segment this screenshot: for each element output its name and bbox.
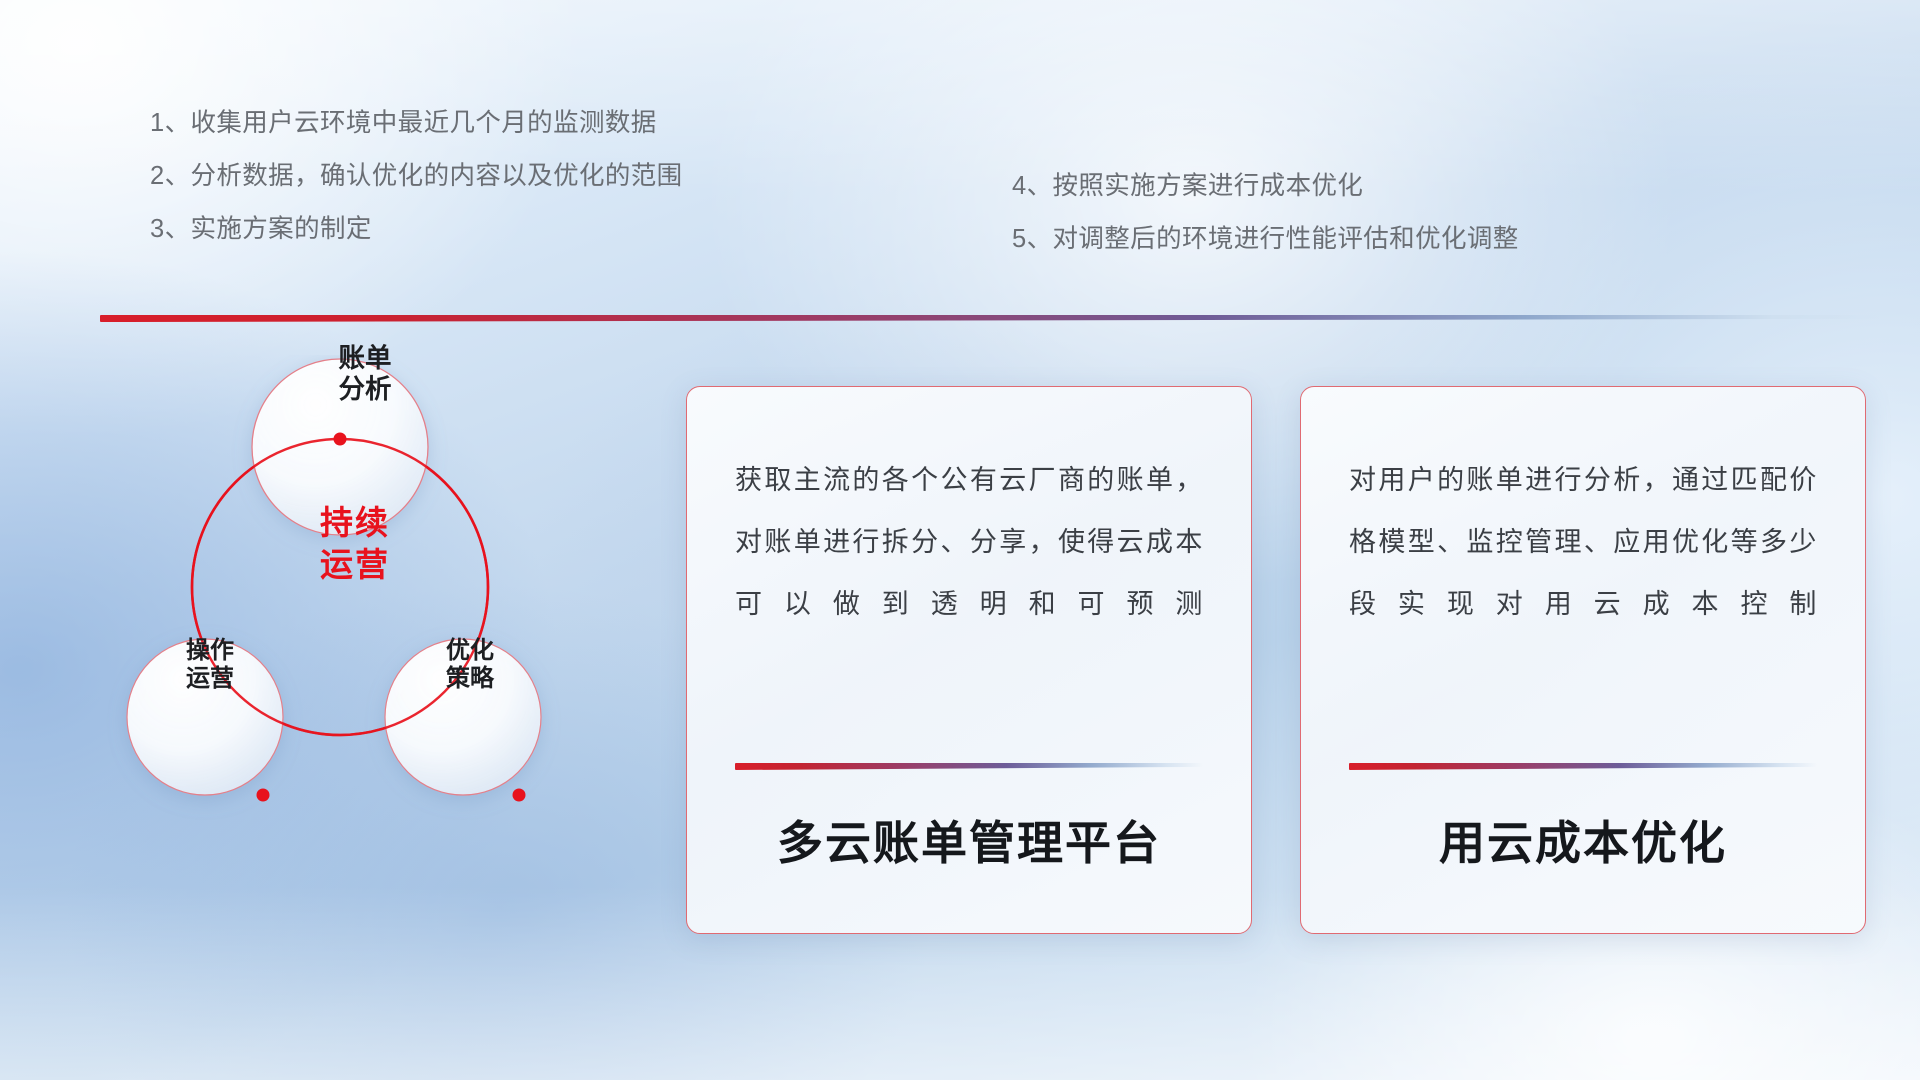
step-item: 2、分析数据，确认优化的内容以及优化的范围 [150, 150, 683, 203]
card-body: 获取主流的各个公有云厂商的账单，对账单进行拆分、分享，使得云成本可以做到透明和可… [687, 387, 1251, 635]
step-item: 1、收集用户云环境中最近几个月的监测数据 [150, 97, 683, 150]
step-item: 3、实施方案的制定 [150, 203, 683, 256]
step-item: 5、对调整后的环境进行性能评估和优化调整 [1012, 213, 1519, 266]
card-body: 对用户的账单进行分析，通过匹配价格模型、监控管理、应用优化等多少段实现对用云成本… [1301, 387, 1865, 635]
connector-dot-bottom-left [257, 789, 270, 802]
card-description: 获取主流的各个公有云厂商的账单，对账单进行拆分、分享，使得云成本可以做到透明和可… [735, 449, 1203, 635]
continuous-operation-diagram: 账单 分析 操作 运营 优化 策略 持续 运营 [95, 355, 565, 825]
steps-list-right: 4、按照实施方案进行成本优化 5、对调整后的环境进行性能评估和优化调整 [1012, 160, 1519, 266]
connector-dot-top [334, 433, 347, 446]
feature-card-cost-optimization[interactable]: 对用户的账单进行分析，通过匹配价格模型、监控管理、应用优化等多少段实现对用云成本… [1300, 386, 1866, 934]
card-title: 用云成本优化 [1301, 807, 1865, 873]
feature-card-multicloud-billing[interactable]: 获取主流的各个公有云厂商的账单，对账单进行拆分、分享，使得云成本可以做到透明和可… [686, 386, 1252, 934]
step-item: 4、按照实施方案进行成本优化 [1012, 160, 1519, 213]
card-divider [735, 763, 1203, 770]
diagram-svg [95, 355, 565, 825]
card-title: 多云账单管理平台 [687, 807, 1251, 873]
connector-dot-bottom-right [513, 789, 526, 802]
divider-bar [100, 315, 1880, 322]
section-divider [100, 315, 1880, 322]
card-description: 对用户的账单进行分析，通过匹配价格模型、监控管理、应用优化等多少段实现对用云成本… [1349, 449, 1817, 635]
node-label-operation: 操作 运营 [135, 637, 285, 694]
card-divider [1349, 763, 1817, 770]
diagram-center-label: 持续 运营 [255, 502, 455, 586]
steps-list-left: 1、收集用户云环境中最近几个月的监测数据 2、分析数据，确认优化的内容以及优化的… [150, 97, 683, 256]
node-label-bill-analysis: 账单 分析 [285, 343, 445, 406]
node-label-optimization: 优化 策略 [395, 637, 545, 694]
